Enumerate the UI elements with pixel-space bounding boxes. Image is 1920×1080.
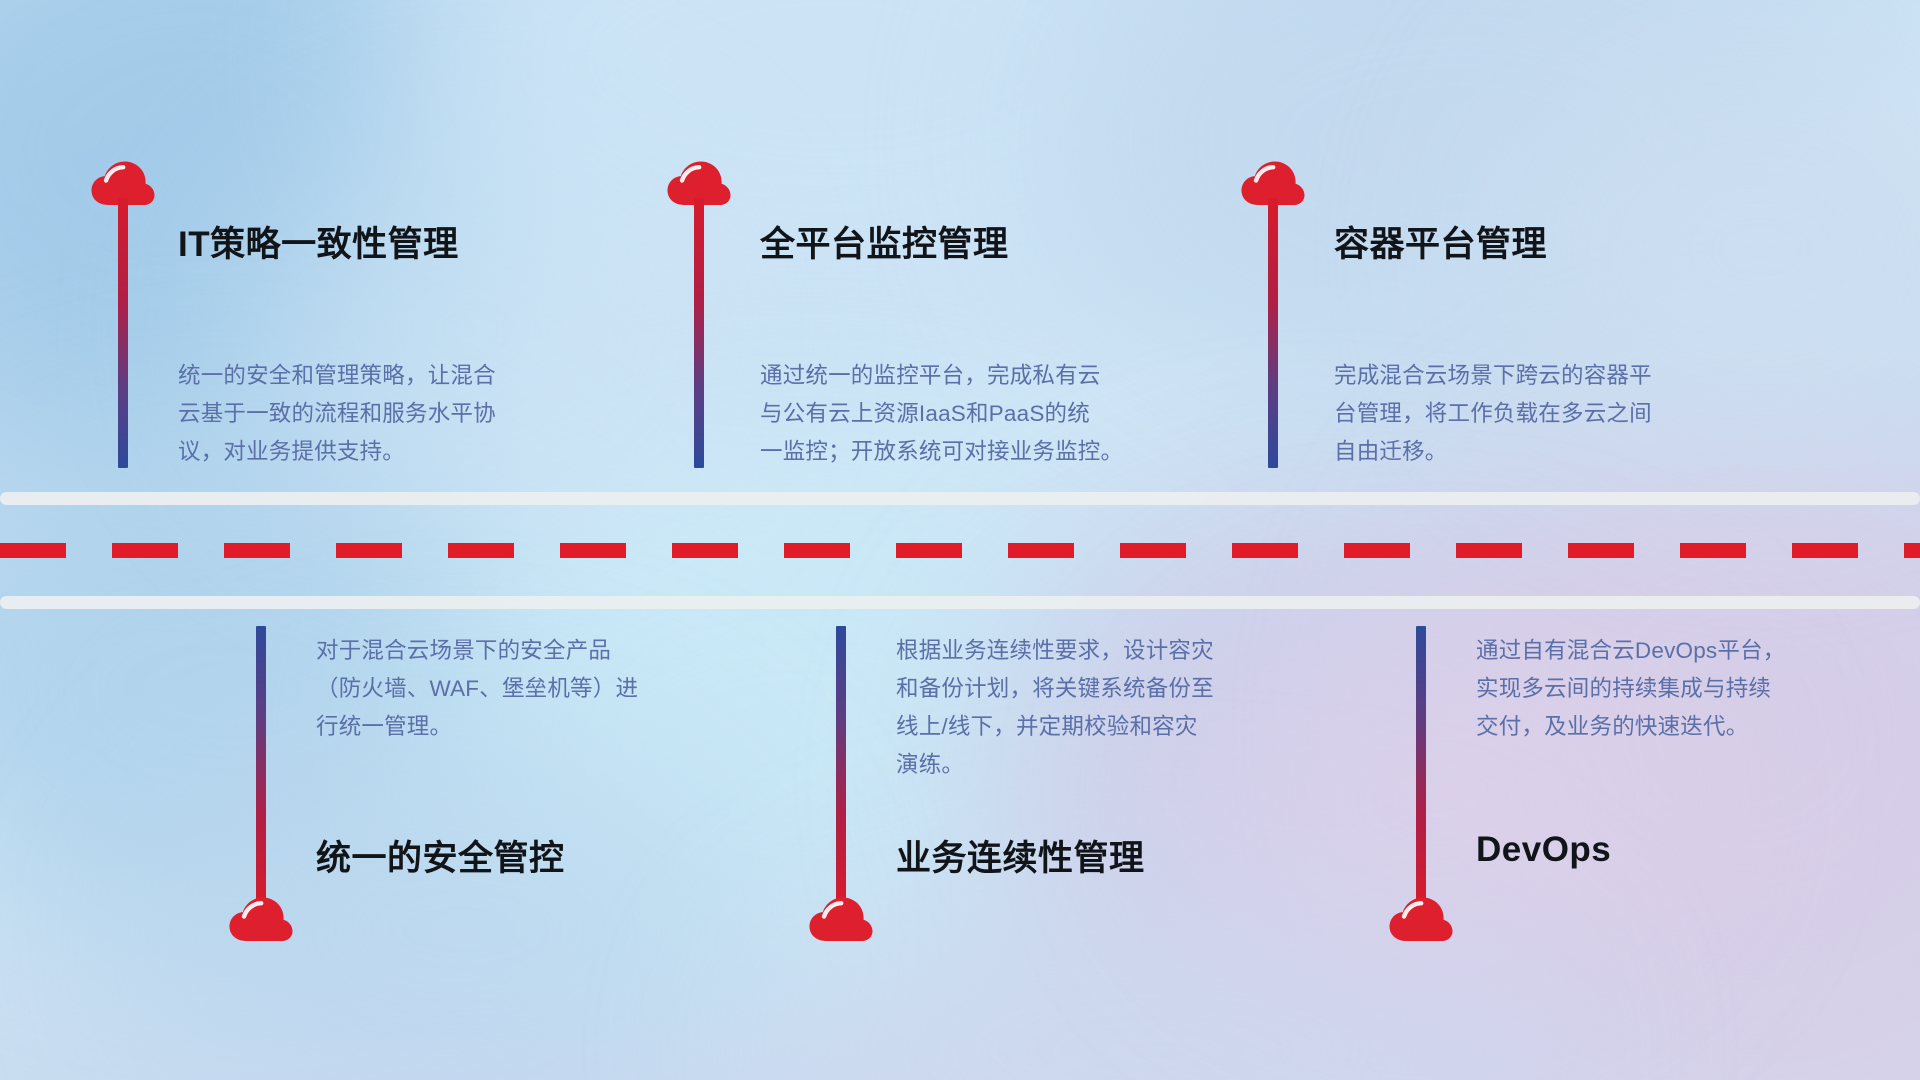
divider-edge-top [0, 492, 1920, 505]
card-heading: 统一的安全管控 [316, 830, 565, 881]
card-heading: 容器平台管理 [1334, 216, 1547, 267]
card-heading: 业务连续性管理 [896, 830, 1145, 881]
card-heading: IT策略一致性管理 [178, 216, 459, 267]
cloud-pin-icon [228, 896, 294, 944]
card-body-text: 对于混合云场景下的安全产品 （防火墙、WAF、堡垒机等）进 行统一管理。 [316, 632, 746, 746]
card-body-text: 统一的安全和管理策略，让混合 云基于一致的流程和服务水平协 议，对业务提供支持。 [178, 357, 608, 471]
timeline-bar [256, 626, 266, 906]
timeline-bar [694, 198, 704, 468]
cloud-pin-icon [1388, 896, 1454, 944]
divider-edge-bottom [0, 596, 1920, 609]
timeline-bar [1416, 626, 1426, 906]
infographic-canvas: IT策略一致性管理 统一的安全和管理策略，让混合 云基于一致的流程和服务水平协 … [0, 0, 1920, 1080]
timeline-bar [118, 198, 128, 468]
timeline-bar [836, 626, 846, 906]
card-body-text: 通过统一的监控平台，完成私有云 与公有云上资源IaaS和PaaS的统 一监控；开… [760, 357, 1200, 471]
card-heading: 全平台监控管理 [760, 216, 1009, 267]
timeline-bar [1268, 198, 1278, 468]
card-heading: DevOps [1476, 830, 1611, 870]
cloud-pin-icon [808, 896, 874, 944]
card-body-text: 通过自有混合云DevOps平台， 实现多云间的持续集成与持续 交付，及业务的快速… [1476, 632, 1906, 746]
card-body-text: 完成混合云场景下跨云的容器平 台管理，将工作负载在多云之间 自由迁移。 [1334, 357, 1774, 471]
divider-dashed-line [0, 543, 1920, 558]
card-body-text: 根据业务连续性要求，设计容灾 和备份计划，将关键系统备份至 线上/线下，并定期校… [896, 632, 1336, 784]
